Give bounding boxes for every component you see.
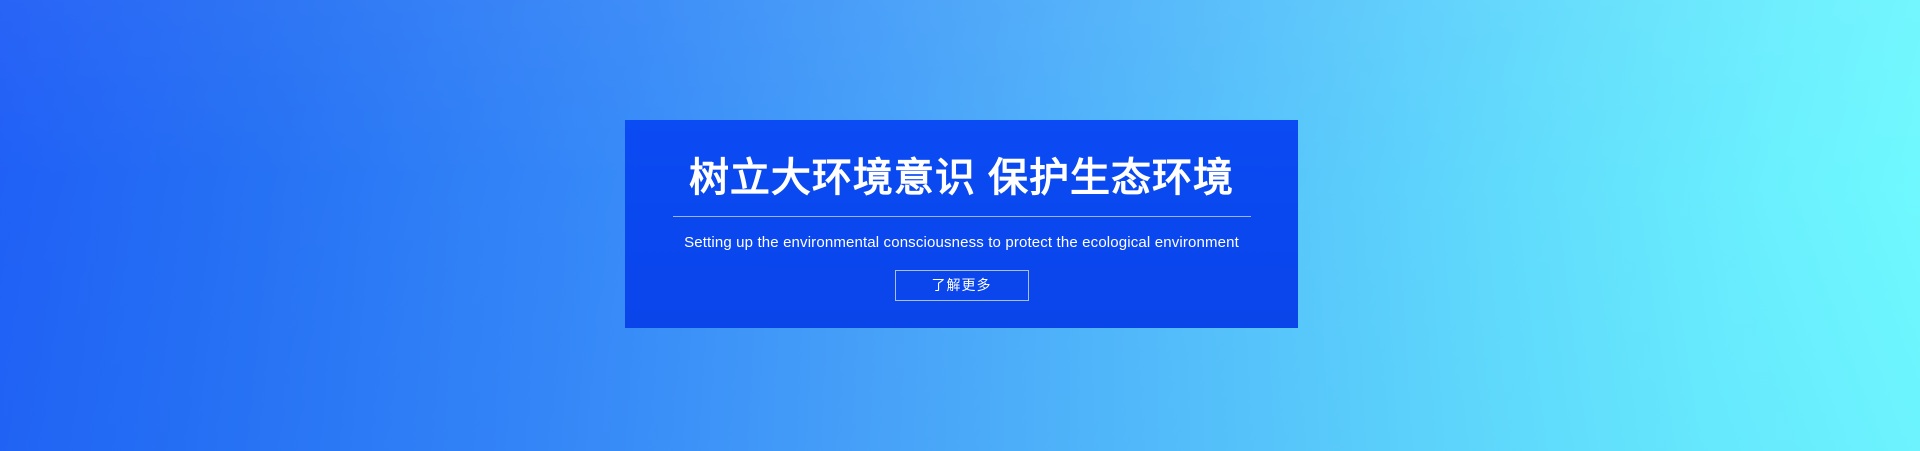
hero-banner: 树立大环境意识 保护生态环境 Setting up the environmen… (0, 0, 1920, 451)
hero-subtitle: Setting up the environmental consciousne… (684, 234, 1239, 252)
hero-content-panel: 树立大环境意识 保护生态环境 Setting up the environmen… (625, 120, 1298, 328)
learn-more-button[interactable]: 了解更多 (895, 270, 1029, 301)
heading-divider (673, 216, 1251, 217)
hero-heading: 树立大环境意识 保护生态环境 (689, 158, 1234, 198)
